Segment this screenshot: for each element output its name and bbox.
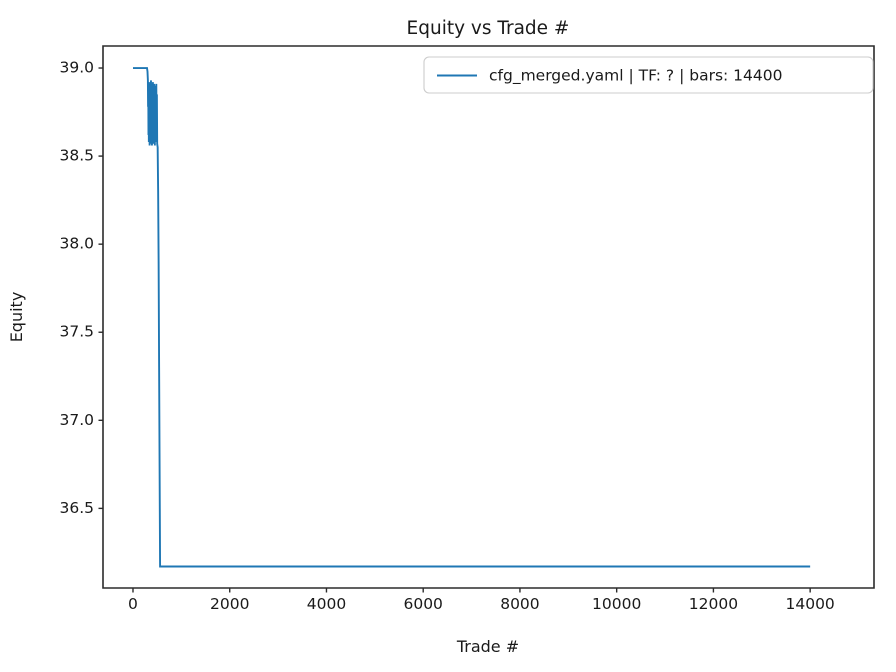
chart-canvas: Equity vs Trade # 0200040006000800010000… <box>0 0 896 672</box>
x-tick-label: 10000 <box>592 595 641 613</box>
x-tick-label: 6000 <box>403 595 442 613</box>
y-tick-label: 36.5 <box>59 499 94 517</box>
x-tick-label: 0 <box>128 595 138 613</box>
plot-area-background <box>103 46 874 588</box>
x-axis-ticks: 02000400060008000100001200014000 <box>128 588 835 613</box>
y-tick-label: 38.0 <box>59 235 94 253</box>
x-tick-label: 2000 <box>210 595 249 613</box>
x-tick-label: 4000 <box>307 595 346 613</box>
y-axis-ticks: 36.537.037.538.038.539.0 <box>59 59 103 517</box>
y-tick-label: 37.0 <box>59 411 94 429</box>
x-tick-label: 14000 <box>785 595 834 613</box>
y-tick-label: 37.5 <box>59 323 94 341</box>
x-axis-label: Trade # <box>456 637 519 656</box>
y-tick-label: 39.0 <box>59 59 94 77</box>
chart-legend[interactable]: cfg_merged.yaml | TF: ? | bars: 14400 <box>424 57 873 93</box>
y-axis-label: Equity <box>7 292 26 343</box>
matplotlib-figure: Equity vs Trade # 0200040006000800010000… <box>0 0 896 672</box>
legend-entry-label: cfg_merged.yaml | TF: ? | bars: 14400 <box>489 67 782 86</box>
chart-title: Equity vs Trade # <box>407 18 570 39</box>
x-tick-label: 12000 <box>689 595 738 613</box>
y-tick-label: 38.5 <box>59 147 94 165</box>
x-tick-label: 8000 <box>500 595 539 613</box>
